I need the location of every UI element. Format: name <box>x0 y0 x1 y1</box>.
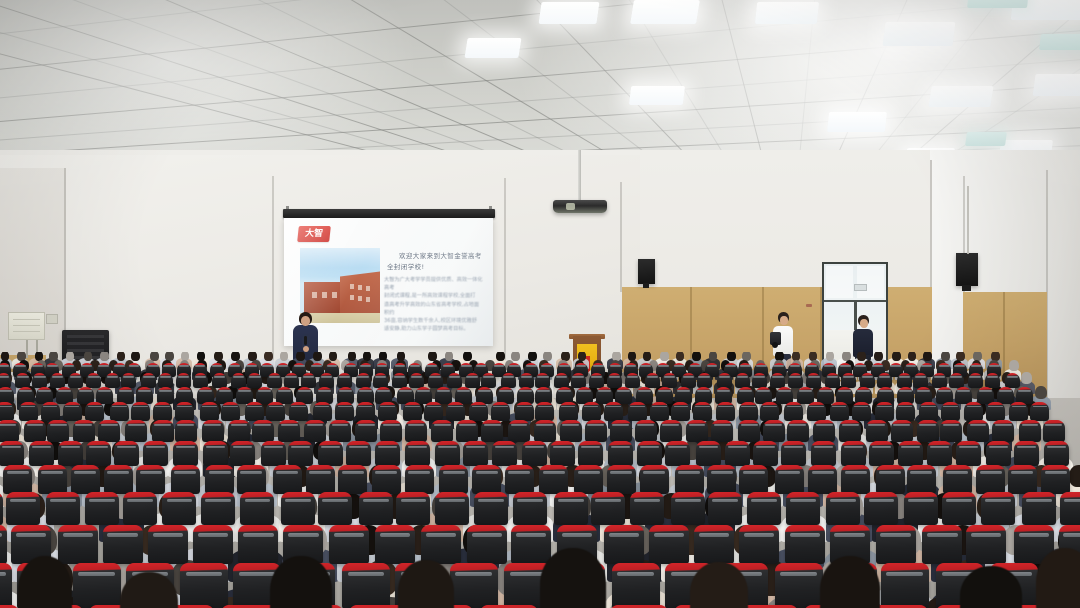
auditorium-photo: 大智 欢迎大家来到大智金誉高考 全封闭学校! <box>0 0 1080 608</box>
auditorium-seat <box>252 420 274 442</box>
auditorium-seat <box>58 441 83 466</box>
door-vent-plate <box>854 284 867 291</box>
auditorium-seat <box>927 441 952 466</box>
audience-member-head <box>612 352 621 361</box>
auditorium-seat <box>640 465 669 494</box>
auditorium-seat <box>501 373 516 388</box>
auditorium-seat <box>1041 465 1070 494</box>
audience-member-head <box>264 352 273 361</box>
auditorium-seat <box>737 387 754 404</box>
audience-member-head <box>100 352 109 361</box>
auditorium-seat <box>47 420 69 442</box>
audience-member-head <box>248 352 257 361</box>
auditorium-seat <box>956 441 981 466</box>
auditorium-seat <box>0 525 7 564</box>
staff-face <box>780 316 788 325</box>
auditorium-seat <box>0 387 14 404</box>
wall-junction-box <box>46 314 58 324</box>
auditorium-seat <box>236 387 253 404</box>
auditorium-seat <box>465 373 480 388</box>
auditorium-seat <box>788 373 803 388</box>
auditorium-seat <box>755 387 772 404</box>
audience-member-head <box>792 352 801 361</box>
audience-member-head <box>214 352 223 361</box>
audience-member-head <box>280 352 289 361</box>
auditorium-seat <box>660 420 682 442</box>
auditorium-seat <box>0 441 24 466</box>
auditorium-seat <box>1043 420 1065 442</box>
auditorium-seat <box>110 402 129 421</box>
auditorium-seat <box>866 420 888 442</box>
audience-member-head <box>628 352 637 361</box>
auditorium-seat <box>148 525 188 564</box>
auditorium-seat <box>428 373 443 388</box>
auditorium-seat <box>373 373 388 388</box>
auditorium-seat <box>180 563 228 608</box>
auditorium-seat <box>346 441 371 466</box>
auditorium-seat <box>739 465 768 494</box>
door-handle[interactable] <box>806 304 812 307</box>
audience-member-head <box>956 352 965 361</box>
audience-member-head <box>511 352 520 361</box>
handheld-microphone <box>304 336 307 345</box>
auditorium-seat <box>247 373 262 388</box>
auditorium-seat <box>615 387 632 404</box>
audience-member-head <box>1035 386 1047 399</box>
audience-member-head <box>676 352 685 361</box>
auditorium-seat <box>985 373 1000 388</box>
audience-member-head <box>742 352 751 361</box>
auditorium-seat <box>604 402 623 421</box>
auditorium-seat <box>693 402 712 421</box>
auditorium-seat <box>261 441 286 466</box>
auditorium-seat <box>1009 402 1028 421</box>
auditorium-seat <box>24 420 46 442</box>
auditorium-seat <box>1008 465 1037 494</box>
auditorium-seat <box>556 387 573 404</box>
auditorium-seat <box>539 465 568 494</box>
slide-body-line: 适安静,助力山东学子圆梦高考目标。 <box>384 325 484 333</box>
auditorium-seat <box>114 441 139 466</box>
observer-face <box>860 319 868 328</box>
ceiling-light-panel <box>464 38 521 58</box>
auditorium-seat <box>511 525 551 564</box>
auditorium-seat <box>193 525 233 564</box>
auditorium-seat <box>73 563 121 608</box>
auditorium-seat <box>58 525 98 564</box>
ceiling-projector <box>553 200 607 213</box>
auditorium-seat <box>342 563 390 608</box>
slide-title: 欢迎大家来到大智金誉高考 全封闭学校! <box>387 251 485 273</box>
audience-member-head <box>643 352 652 361</box>
auditorium-seat <box>77 387 94 404</box>
auditorium-seat <box>763 420 785 442</box>
auditorium-seat <box>694 525 734 564</box>
auditorium-seat <box>435 387 452 404</box>
auditorium-seat <box>787 420 809 442</box>
auditorium-seat <box>739 525 779 564</box>
auditorium-seat <box>940 420 962 442</box>
audience-member-head <box>543 352 552 361</box>
door-glass-upper-left <box>826 266 853 298</box>
auditorium-seat <box>981 492 1015 525</box>
auditorium-seat <box>136 387 153 404</box>
auditorium-seat <box>665 441 690 466</box>
auditorium-seat <box>237 465 266 494</box>
auditorium-seat <box>143 441 168 466</box>
auditorium-seat <box>103 525 143 564</box>
auditorium-seat <box>68 373 83 388</box>
auditorium-seat <box>318 492 352 525</box>
auditorium-seat <box>0 402 14 421</box>
auditorium-seat <box>203 441 228 466</box>
audience-member-head <box>313 352 322 361</box>
auditorium-seat <box>855 387 872 404</box>
auditorium-seat <box>781 441 806 466</box>
auditorium-seat <box>775 563 823 608</box>
auditorium-seat <box>63 402 82 421</box>
auditorium-seat <box>481 420 503 442</box>
auditorium-seat <box>574 465 603 494</box>
auditorium-seat <box>105 373 120 388</box>
auditorium-seat <box>329 525 369 564</box>
audience-member-head <box>660 352 669 361</box>
auditorium-seat <box>17 387 34 404</box>
auditorium-seat <box>636 387 653 404</box>
auditorium-seat <box>628 402 647 421</box>
projector-mount-pole <box>578 150 581 202</box>
auditorium-seat <box>986 441 1011 466</box>
auditorium-seat <box>405 441 430 466</box>
auditorium-seat <box>864 492 898 525</box>
auditorium-seat <box>304 420 326 442</box>
auditorium-seat <box>338 465 367 494</box>
auditorium-seat <box>943 465 972 494</box>
auditorium-seat <box>649 525 689 564</box>
auditorium-seat <box>175 402 194 421</box>
auditorium-seat <box>986 402 1005 421</box>
auditorium-seat <box>708 492 742 525</box>
auditorium-seat <box>671 402 690 421</box>
speaker-bracket-left <box>643 283 649 288</box>
auditorium-seat <box>675 387 692 404</box>
auditorium-seat <box>173 441 198 466</box>
auditorium-seat <box>335 402 354 421</box>
auditorium-seat <box>630 492 664 525</box>
audience-member-head <box>528 352 537 361</box>
auditorium-seat <box>535 402 554 421</box>
auditorium-seat <box>435 492 469 525</box>
auditorium-seat <box>375 525 415 564</box>
auditorium-seat <box>825 373 840 388</box>
projector-lens <box>566 203 575 210</box>
auditorium-seat <box>992 420 1014 442</box>
auditorium-seat <box>472 465 501 494</box>
auditorium-seat <box>686 420 708 442</box>
auditorium-seat <box>439 465 468 494</box>
auditorium-seat <box>817 387 834 404</box>
auditorium-seat <box>775 465 804 494</box>
auditorium-seat <box>29 441 54 466</box>
audience-member-head <box>1069 465 1080 487</box>
auditorium-seat <box>0 563 12 608</box>
auditorium-seat <box>635 420 657 442</box>
audience-member-head <box>379 352 388 361</box>
auditorium-seat <box>554 492 588 525</box>
audience-member-head <box>131 352 140 361</box>
audience-member-head <box>231 352 240 361</box>
auditorium-seat <box>585 420 607 442</box>
auditorium-seat <box>941 402 960 421</box>
auditorium-seat <box>157 387 174 404</box>
auditorium-seat <box>431 420 453 442</box>
audience-member-head <box>1 352 10 361</box>
auditorium-seat <box>671 492 705 525</box>
auditorium-seat <box>968 373 983 388</box>
auditorium-seat <box>201 492 235 525</box>
auditorium-seat <box>534 420 556 442</box>
auditorium-seat <box>922 525 962 564</box>
auditorium-seat <box>421 525 461 564</box>
auditorium-seat <box>841 441 866 466</box>
screen-roller-casing <box>283 209 495 218</box>
auditorium-seat <box>1016 387 1033 404</box>
auditorium-seat <box>607 465 636 494</box>
wall-speaker-right <box>956 253 978 286</box>
auditorium-seat <box>1060 492 1080 525</box>
auditorium-seat <box>637 441 662 466</box>
auditorium-seat <box>266 402 285 421</box>
audience-member-head <box>17 352 26 361</box>
audience-member-head <box>709 352 718 361</box>
auditorium-seat <box>491 402 510 421</box>
auditorium-seat <box>3 465 32 494</box>
auditorium-seat <box>785 525 825 564</box>
auditorium-seat <box>245 402 264 421</box>
auditorium-seat <box>711 420 733 442</box>
seated-audience <box>0 352 1080 608</box>
auditorium-seat <box>1044 441 1069 466</box>
audience-member-head <box>181 352 190 361</box>
auditorium-seat <box>707 465 736 494</box>
ceiling-grid-line <box>0 51 1080 145</box>
auditorium-seat <box>197 387 214 404</box>
auditorium-seat <box>380 420 402 442</box>
door-glass-upper-right <box>857 266 884 298</box>
auditorium-seat <box>329 420 351 442</box>
ceiling-light-panel <box>1032 74 1080 96</box>
auditorium-seat <box>517 387 534 404</box>
auditorium-seat <box>424 402 443 421</box>
auditorium-seat <box>46 492 80 525</box>
audience-member-head <box>908 352 917 361</box>
auditorium-seat <box>85 492 119 525</box>
auditorium-seat <box>450 563 498 608</box>
auditorium-seat <box>375 441 400 466</box>
auditorium-seat <box>797 387 814 404</box>
audience-member-head <box>923 352 932 361</box>
audience-member-head <box>445 352 454 361</box>
auditorium-seat <box>276 387 293 404</box>
auditorium-seat <box>306 465 335 494</box>
slide-body: 大智为广大考学学员提供优质、高效一体化高考封闭式课程,是一所高效课程学校,全面打… <box>384 276 484 333</box>
auditorium-seat <box>826 492 860 525</box>
auditorium-seat <box>596 387 613 404</box>
auditorium-seat <box>936 387 953 404</box>
auditorium-seat <box>316 387 333 404</box>
auditorium-seat <box>355 420 377 442</box>
auditorium-seat <box>117 387 134 404</box>
ceiling-light-panel <box>965 132 1007 146</box>
auditorium-seat <box>86 441 111 466</box>
audience-member-head <box>165 352 174 361</box>
auditorium-seat <box>36 387 53 404</box>
audience-member-head <box>578 352 587 361</box>
auditorium-seat <box>85 402 104 421</box>
presenter-face <box>301 316 310 326</box>
auditorium-seat <box>966 525 1006 564</box>
auditorium-seat <box>296 387 313 404</box>
auditorium-seat <box>881 563 929 608</box>
auditorium-seat <box>337 387 354 404</box>
ceiling-light-panel <box>967 0 1029 8</box>
auditorium-seat <box>753 441 778 466</box>
auditorium-seat <box>656 387 673 404</box>
auditorium-seat <box>913 373 928 388</box>
ceiling-light-panel <box>928 86 993 107</box>
auditorium-seat <box>288 441 313 466</box>
audience-member-head <box>892 352 901 361</box>
auditorium-seat <box>131 402 150 421</box>
auditorium-seat <box>1030 402 1049 421</box>
auditorium-seat <box>696 441 721 466</box>
audience-member-head <box>1009 360 1018 371</box>
auditorium-seat <box>645 373 660 388</box>
auditorium-seat <box>876 525 916 564</box>
audience-member-head <box>692 352 701 361</box>
auditorium-seat <box>898 441 923 466</box>
auditorium-seat <box>784 402 803 421</box>
auditorium-seat <box>955 387 972 404</box>
auditorium-seat <box>455 387 472 404</box>
auditorium-seat <box>86 373 101 388</box>
auditorium-seat <box>747 492 781 525</box>
slide-title-line2: 全封闭学校! <box>387 262 485 273</box>
auditorium-seat <box>405 465 434 494</box>
auditorium-seat <box>318 441 343 466</box>
auditorium-seat <box>591 492 625 525</box>
auditorium-seat <box>811 441 836 466</box>
audience-member-head <box>941 352 950 361</box>
auditorium-seat <box>917 420 939 442</box>
audience-member-head <box>874 352 883 361</box>
auditorium-seat <box>435 441 460 466</box>
auditorium-seat <box>171 465 200 494</box>
auditorium-seat <box>238 525 278 564</box>
auditorium-seat <box>476 387 493 404</box>
audience-member-head <box>561 352 570 361</box>
auditorium-seat <box>284 373 299 388</box>
auditorium-seat <box>1022 492 1056 525</box>
auditorium-seat <box>121 373 136 388</box>
auditorium-seat <box>582 402 601 421</box>
auditorium-seat <box>813 420 835 442</box>
audience-member-head <box>35 352 44 361</box>
auditorium-seat <box>739 402 758 421</box>
foreground-audience-head <box>540 548 606 608</box>
auditorium-seat <box>313 402 332 421</box>
audience-member-head <box>775 352 784 361</box>
auditorium-seat <box>41 402 60 421</box>
auditorium-seat <box>559 402 578 421</box>
auditorium-seat <box>806 373 821 388</box>
slide-body-line: 封闭式课程,是一所高效课程学校,全面打 <box>384 292 484 300</box>
auditorium-seat <box>522 441 547 466</box>
auditorium-seat <box>136 465 165 494</box>
auditorium-seat <box>98 420 120 442</box>
auditorium-seat <box>904 492 938 525</box>
auditorium-seat <box>852 402 871 421</box>
auditorium-seat <box>604 525 644 564</box>
auditorium-seat <box>964 402 983 421</box>
auditorium-seat <box>19 402 38 421</box>
auditorium-seat <box>891 420 913 442</box>
audience-member-head <box>1021 372 1031 384</box>
speaker-bracket-right <box>962 285 971 291</box>
auditorium-seat <box>508 420 530 442</box>
auditorium-seat <box>375 387 392 404</box>
audience-member-head <box>197 352 206 361</box>
audience-member-head <box>329 352 338 361</box>
slide-body-line: 造高考升学高效的山东省高考学校,占地面积约 <box>384 301 484 317</box>
auditorium-seat <box>267 373 282 388</box>
auditorium-seat <box>221 402 240 421</box>
auditorium-seat <box>15 373 30 388</box>
auditorium-seat <box>397 387 414 404</box>
ceiling-light-panel <box>755 2 819 24</box>
auditorium-seat <box>513 492 547 525</box>
auditorium-seat <box>550 441 575 466</box>
auditorium-seat <box>273 465 302 494</box>
auditorium-seat <box>230 441 255 466</box>
wall-speaker-left <box>638 259 655 284</box>
auditorium-seat <box>357 387 374 404</box>
slide-title-line1: 欢迎大家来到大智金誉高考 <box>387 251 485 262</box>
auditorium-seat <box>359 492 393 525</box>
audience-member-head <box>991 352 1000 361</box>
auditorium-seat <box>73 420 95 442</box>
ceiling-light-panel <box>827 112 887 132</box>
auditorium-seat <box>610 420 632 442</box>
audience-member-head <box>49 352 58 361</box>
auditorium-seat <box>415 387 432 404</box>
auditorium-seat <box>0 492 3 525</box>
auditorium-seat <box>356 402 375 421</box>
auditorium-seat <box>942 492 976 525</box>
auditorium-seat <box>650 402 669 421</box>
auditorium-seat <box>625 373 640 388</box>
auditorium-seat <box>760 402 779 421</box>
audience-member-head <box>150 352 159 361</box>
auditorium-seat <box>463 441 488 466</box>
auditorium-seat <box>560 420 582 442</box>
auditorium-seat <box>71 465 100 494</box>
auditorium-seat <box>612 563 660 608</box>
ceiling-light-panel <box>629 86 685 105</box>
auditorium-seat <box>205 465 234 494</box>
auditorium-seat <box>56 387 73 404</box>
auditorium-seat <box>356 373 371 388</box>
